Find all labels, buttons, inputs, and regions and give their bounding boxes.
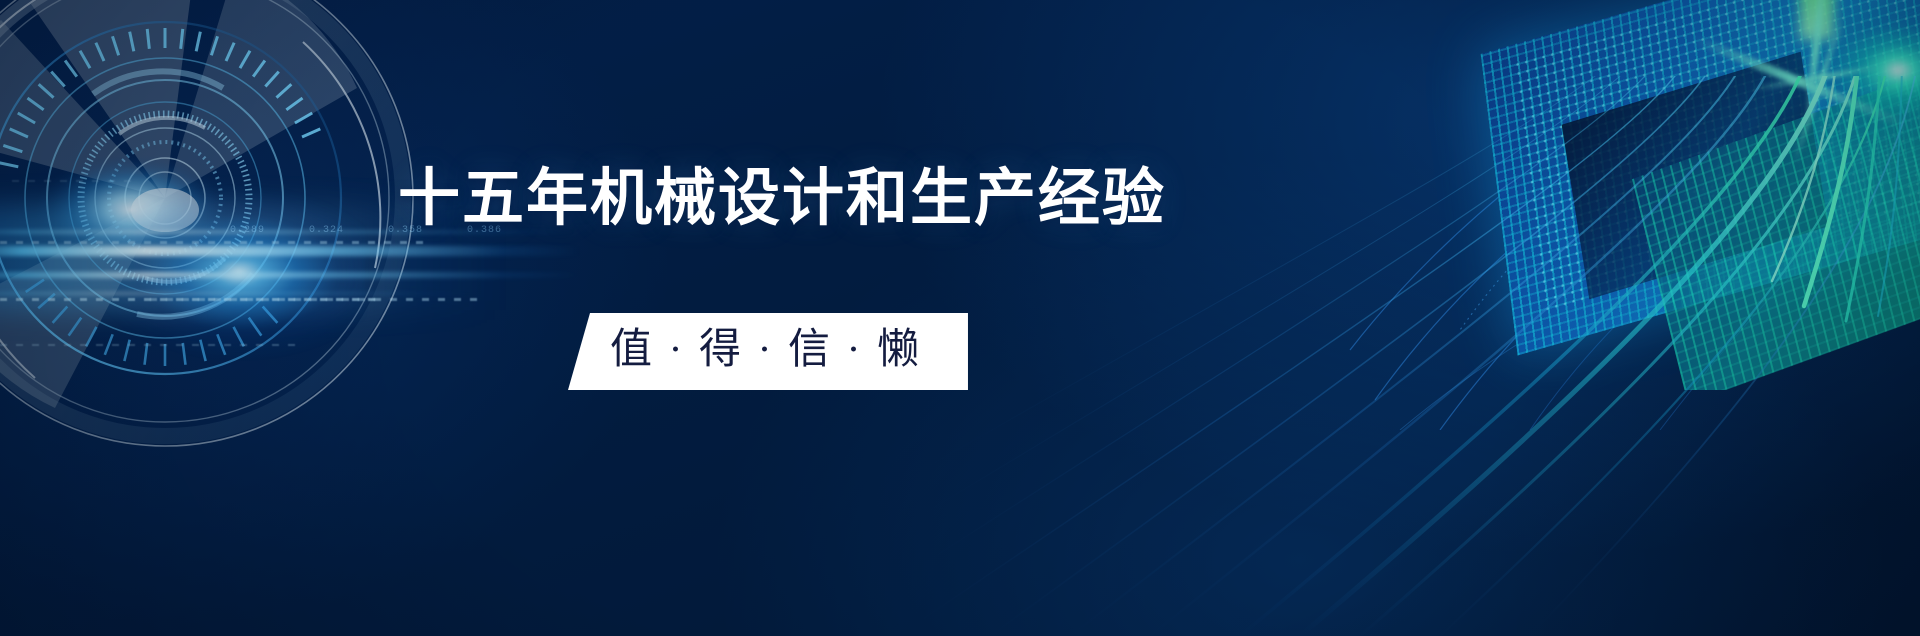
readout-value: 0.289 (230, 225, 265, 236)
data-dash-row (12, 180, 132, 182)
readout-value: 0.324 (309, 225, 344, 236)
page-title: 十五年机械设计和生产经验 (398, 168, 1166, 230)
hud-beam (0, 292, 480, 295)
hud-beam (0, 272, 580, 278)
hero-banner: 0.289 0.324 0.358 0.386 十五年机械设计和生产经验 值 ·… (0, 0, 1920, 636)
hud-beam (0, 246, 580, 256)
data-dash-row (150, 298, 480, 301)
tagline-badge: 值 · 得 · 信 · 懒 (568, 313, 968, 390)
data-dash-row (0, 344, 300, 346)
tagline-text: 值 · 得 · 信 · 懒 (610, 327, 922, 374)
green-light-tail (1800, 0, 1834, 40)
circuit-board-graphic (1400, 0, 1920, 390)
data-dash-row (0, 241, 430, 244)
